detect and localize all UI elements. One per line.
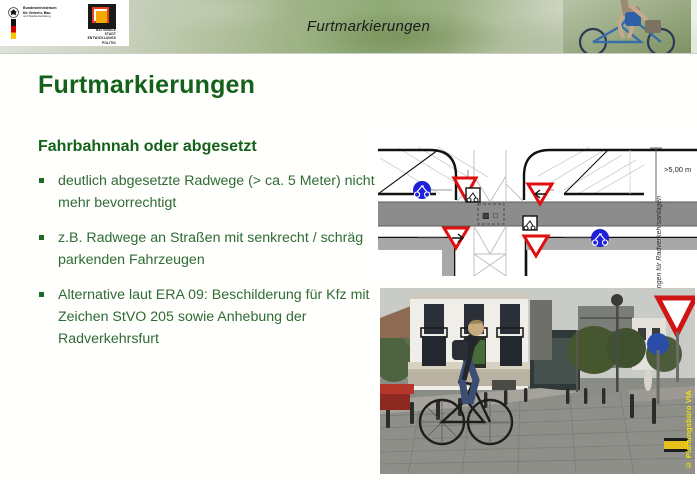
slide: Furtmarkierungen Bundesministerium für V…: [0, 0, 697, 480]
street-photo: © Planungsbüro VIA: [380, 288, 695, 474]
section-subtitle: Fahrbahnnah oder abgesetzt: [38, 138, 257, 156]
svg-text:□: □: [493, 211, 498, 220]
list-item-text: z.B. Radwege an Straßen mit senkrecht / …: [58, 230, 363, 268]
diagram-svg: ▩ □: [378, 128, 697, 276]
cyclist-photo-icon: [563, 0, 691, 53]
list-item: z.B. Radwege an Straßen mit senkrecht / …: [36, 227, 376, 271]
nsp-logo-icon: [88, 4, 116, 29]
bullet-marker-icon: [39, 235, 44, 240]
list-item: Alternative laut ERA 09: Beschilderung f…: [36, 284, 376, 350]
bullet-marker-icon: [39, 178, 44, 183]
bullet-list: deutlich abgesetzte Radwege (> ca. 5 Met…: [36, 170, 376, 363]
nsp-logo-square: [96, 11, 107, 23]
street-photo-svg: [380, 288, 695, 474]
ministry-name: Bundesministerium für Verkehr, Bau und S…: [23, 6, 95, 19]
list-item-text: deutlich abgesetzte Radwege (> ca. 5 Met…: [58, 173, 375, 211]
nsp-wordmark: NATIONALE STADT ENTWICKLUNGS POLITIK: [62, 28, 116, 45]
federal-eagle-icon: [8, 7, 19, 18]
ministry-logo-block: Bundesministerium für Verkehr, Bau und S…: [0, 0, 129, 46]
nsp-line-4: POLITIK: [62, 41, 116, 45]
list-item-text: Alternative laut ERA 09: Beschilderung f…: [58, 287, 370, 347]
intersection-diagram: ▩ □: [378, 128, 697, 276]
svg-text:▩: ▩: [482, 211, 490, 220]
german-flag-icon: [11, 19, 16, 39]
banner-divider: [0, 53, 697, 54]
supplementary-sign: [466, 188, 480, 202]
photo-credit: © Planungsbüro VIA: [684, 390, 693, 470]
bullet-marker-icon: [39, 292, 44, 297]
header-banner: Furtmarkierungen Bundesministerium für V…: [0, 0, 697, 53]
bike-path-sign: [591, 229, 609, 247]
dimension-label: >5,00 m: [664, 165, 691, 174]
page-title: Furtmarkierungen: [38, 71, 255, 100]
list-item: deutlich abgesetzte Radwege (> ca. 5 Met…: [36, 170, 376, 214]
ministry-line-3: und Stadtentwicklung: [23, 15, 95, 19]
bike-path-sign: [413, 181, 431, 199]
supplementary-sign: [523, 216, 537, 230]
